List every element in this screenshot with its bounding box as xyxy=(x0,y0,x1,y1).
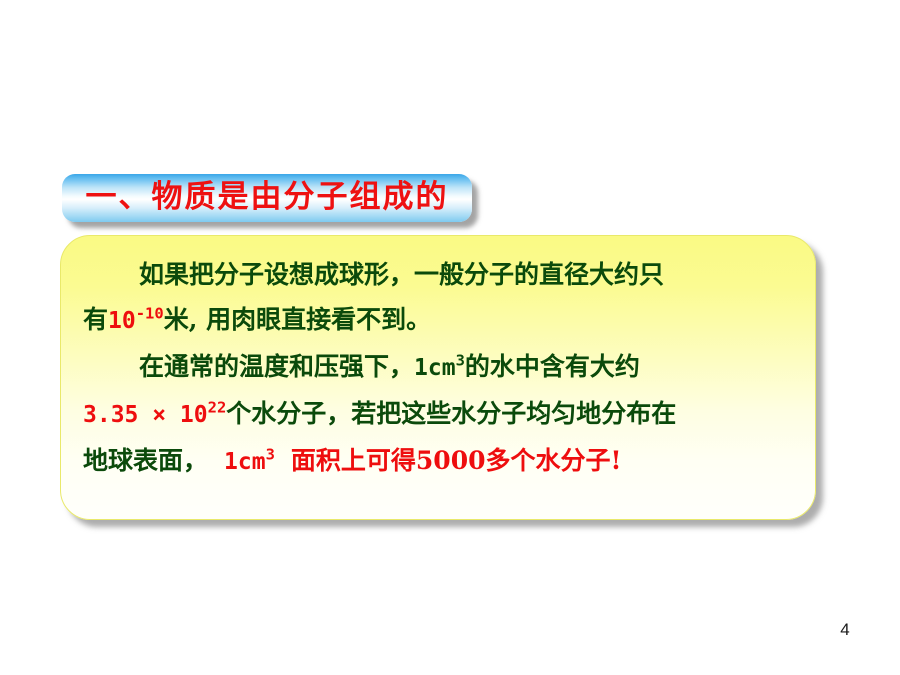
body-line-3: 在通常的温度和压强下，1cm3的水中含有大约 xyxy=(83,344,793,391)
body-line-1-text: 如果把分子设想成球形，一般分子的直径大约只 xyxy=(139,260,664,289)
body-line-2: 有10-10米, 用肉眼直接看不到。 xyxy=(83,297,793,344)
body-line-3-suffix: 的水中含有大约 xyxy=(465,352,640,381)
body-content-box: 如果把分子设想成球形，一般分子的直径大约只 有10-10米, 用肉眼直接看不到。… xyxy=(60,235,816,520)
page-number: 4 xyxy=(833,620,857,640)
slide-canvas: 一、物质是由分子组成的 如果把分子设想成球形，一般分子的直径大约只 有10-10… xyxy=(0,0,900,675)
water-volume-value: 1cm xyxy=(414,355,456,381)
section-title-banner: 一、物质是由分子组成的 xyxy=(62,174,472,222)
body-line-5: 地球表面，1cm3面积上可得5000多个水分子! xyxy=(83,438,793,485)
water-volume-exponent: 3 xyxy=(456,352,465,370)
body-line-3-prefix: 在通常的温度和压强下， xyxy=(139,352,414,381)
molecule-diameter-value: 10 xyxy=(108,308,136,334)
body-line-1: 如果把分子设想成球形，一般分子的直径大约只 xyxy=(83,252,793,297)
section-title-text: 一、物质是由分子组成的 xyxy=(86,182,449,213)
surface-area-exponent: 3 xyxy=(266,446,275,464)
body-line-4: 3.35 × 1022个水分子，若把这些水分子均匀地分布在 xyxy=(83,391,793,438)
body-line-2-prefix: 有 xyxy=(83,305,108,334)
body-line-4-suffix: 个水分子，若把这些水分子均匀地分布在 xyxy=(226,399,676,428)
molecule-count-value: 3.35 × 10 xyxy=(83,402,208,428)
surface-area-value: 1cm xyxy=(224,449,266,475)
body-line-2-suffix: 米, 用肉眼直接看不到。 xyxy=(164,305,431,334)
molecule-diameter-exponent: -10 xyxy=(136,305,164,323)
body-line-5-suffix: 面积上可得5000多个水分子! xyxy=(291,446,622,475)
body-line-5-prefix: 地球表面， xyxy=(83,446,208,475)
molecule-count-exponent: 22 xyxy=(208,399,227,417)
